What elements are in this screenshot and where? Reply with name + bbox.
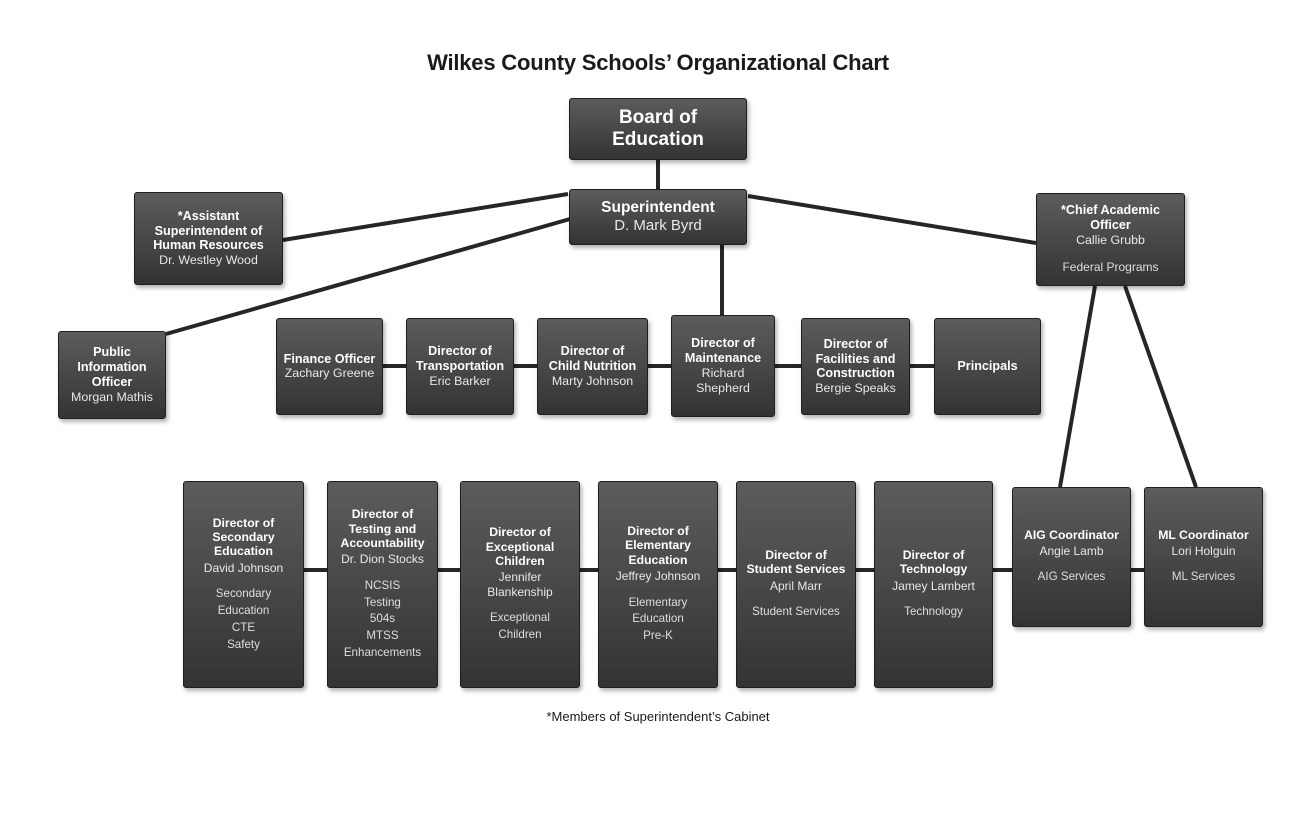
node-duty: Safety xyxy=(190,637,297,654)
node-role: Board of Education xyxy=(576,107,740,152)
node-person: D. Mark Byrd xyxy=(614,217,702,235)
node-role: Director of Secondary Education xyxy=(190,516,297,559)
node-director-of-transportation[interactable]: Director of Transportation Eric Barker xyxy=(406,318,514,415)
node-person: Dr. Westley Wood xyxy=(159,253,258,268)
node-person: Lori Holguin xyxy=(1171,544,1235,558)
node-director-of-maintenance[interactable]: Director of Maintenance Richard Shepherd xyxy=(671,315,775,417)
node-role: Director of Student Services xyxy=(743,548,849,577)
node-role: Director of Technology xyxy=(881,548,986,577)
node-person: April Marr xyxy=(770,579,822,593)
node-role: AIG Coordinator xyxy=(1024,528,1119,542)
node-director-of-elementary-education[interactable]: Director of Elementary Education Jeffrey… xyxy=(598,481,718,688)
node-layer: Board of Education Superintendent D. Mar… xyxy=(0,0,1316,816)
node-director-of-child-nutrition[interactable]: Director of Child Nutrition Marty Johnso… xyxy=(537,318,648,415)
node-person: Bergie Speaks xyxy=(815,381,896,396)
node-person: Richard Shepherd xyxy=(678,366,768,396)
node-ml-coordinator[interactable]: ML Coordinator Lori Holguin ML Services xyxy=(1144,487,1263,627)
node-duty: 504s xyxy=(344,611,421,628)
node-duty: Secondary Education xyxy=(190,586,297,620)
node-role: Director of Facilities and Construction xyxy=(808,337,903,382)
node-duties: NCSIS Testing 504s MTSS Enhancements xyxy=(344,578,421,662)
org-chart-canvas: Wilkes County Schools’ Organizational Ch… xyxy=(0,0,1316,816)
node-public-information-officer[interactable]: Public Information Officer Morgan Mathis xyxy=(58,331,166,419)
node-duty: CTE xyxy=(190,620,297,637)
node-role: Public Information Officer xyxy=(65,345,159,390)
node-role: Director of Exceptional Children xyxy=(467,525,573,568)
node-director-of-testing-and-accountability[interactable]: Director of Testing and Accountability D… xyxy=(327,481,438,688)
node-person: Angie Lamb xyxy=(1039,544,1103,558)
node-duties: Secondary Education CTE Safety xyxy=(190,586,297,653)
node-duties: Exceptional Children xyxy=(467,610,573,644)
node-role: ML Coordinator xyxy=(1158,528,1249,542)
node-director-of-facilities-and-construction[interactable]: Director of Facilities and Construction … xyxy=(801,318,910,415)
node-duty: Testing xyxy=(344,595,421,612)
node-director-of-exceptional-children[interactable]: Director of Exceptional Children Jennife… xyxy=(460,481,580,688)
node-person: Morgan Mathis xyxy=(71,390,153,405)
node-director-of-student-services[interactable]: Director of Student Services April Marr … xyxy=(736,481,856,688)
node-role: Director of Testing and Accountability xyxy=(334,507,431,550)
node-duty: ML Services xyxy=(1172,569,1235,586)
node-person: Jennifer Blankenship xyxy=(467,570,573,599)
node-duty: Technology xyxy=(904,604,963,621)
node-role: *Chief Academic Officer xyxy=(1043,203,1178,233)
node-duties: Technology xyxy=(904,604,963,621)
node-role: *Assistant Superintendent of Human Resou… xyxy=(141,209,276,254)
node-duty: AIG Services xyxy=(1038,569,1106,586)
node-duty: Federal Programs xyxy=(1062,259,1158,276)
node-aig-coordinator[interactable]: AIG Coordinator Angie Lamb AIG Services xyxy=(1012,487,1131,627)
node-director-of-secondary-education[interactable]: Director of Secondary Education David Jo… xyxy=(183,481,304,688)
node-duty: Pre-K xyxy=(605,628,711,645)
node-principals[interactable]: Principals xyxy=(934,318,1041,415)
node-role: Finance Officer xyxy=(284,352,376,367)
node-duty: Student Services xyxy=(752,604,840,621)
node-person: Marty Johnson xyxy=(552,374,633,389)
node-duties: ML Services xyxy=(1172,569,1235,586)
node-assistant-superintendent-human-resources[interactable]: *Assistant Superintendent of Human Resou… xyxy=(134,192,283,285)
node-person: Jamey Lambert xyxy=(892,579,975,593)
node-role: Superintendent xyxy=(601,199,715,217)
node-person: Jeffrey Johnson xyxy=(616,569,701,583)
node-role: Principals xyxy=(957,359,1017,374)
node-duty: Elementary Education xyxy=(605,595,711,629)
node-director-of-technology[interactable]: Director of Technology Jamey Lambert Tec… xyxy=(874,481,993,688)
node-person: Zachary Greene xyxy=(285,366,375,381)
node-duties: AIG Services xyxy=(1038,569,1106,586)
node-role: Director of Transportation xyxy=(413,344,507,374)
node-duty: Exceptional Children xyxy=(467,610,573,644)
node-person: Dr. Dion Stocks xyxy=(341,552,424,566)
node-duties: Student Services xyxy=(752,604,840,621)
node-person: Callie Grubb xyxy=(1076,233,1145,248)
node-person: David Johnson xyxy=(204,561,283,575)
node-superintendent[interactable]: Superintendent D. Mark Byrd xyxy=(569,189,747,245)
node-duties: Elementary Education Pre-K xyxy=(605,595,711,645)
node-role: Director of Maintenance xyxy=(678,336,768,366)
node-duty: MTSS xyxy=(344,628,421,645)
node-finance-officer[interactable]: Finance Officer Zachary Greene xyxy=(276,318,383,415)
cabinet-footnote: *Members of Superintendent’s Cabinet xyxy=(0,709,1316,724)
node-person: Eric Barker xyxy=(429,374,490,389)
node-board-of-education[interactable]: Board of Education xyxy=(569,98,747,160)
node-duty: NCSIS xyxy=(344,578,421,595)
node-duty: Enhancements xyxy=(344,645,421,662)
node-chief-academic-officer[interactable]: *Chief Academic Officer Callie Grubb Fed… xyxy=(1036,193,1185,286)
node-role: Director of Child Nutrition xyxy=(544,344,641,374)
node-role: Director of Elementary Education xyxy=(605,524,711,567)
node-duties: Federal Programs xyxy=(1062,259,1158,276)
